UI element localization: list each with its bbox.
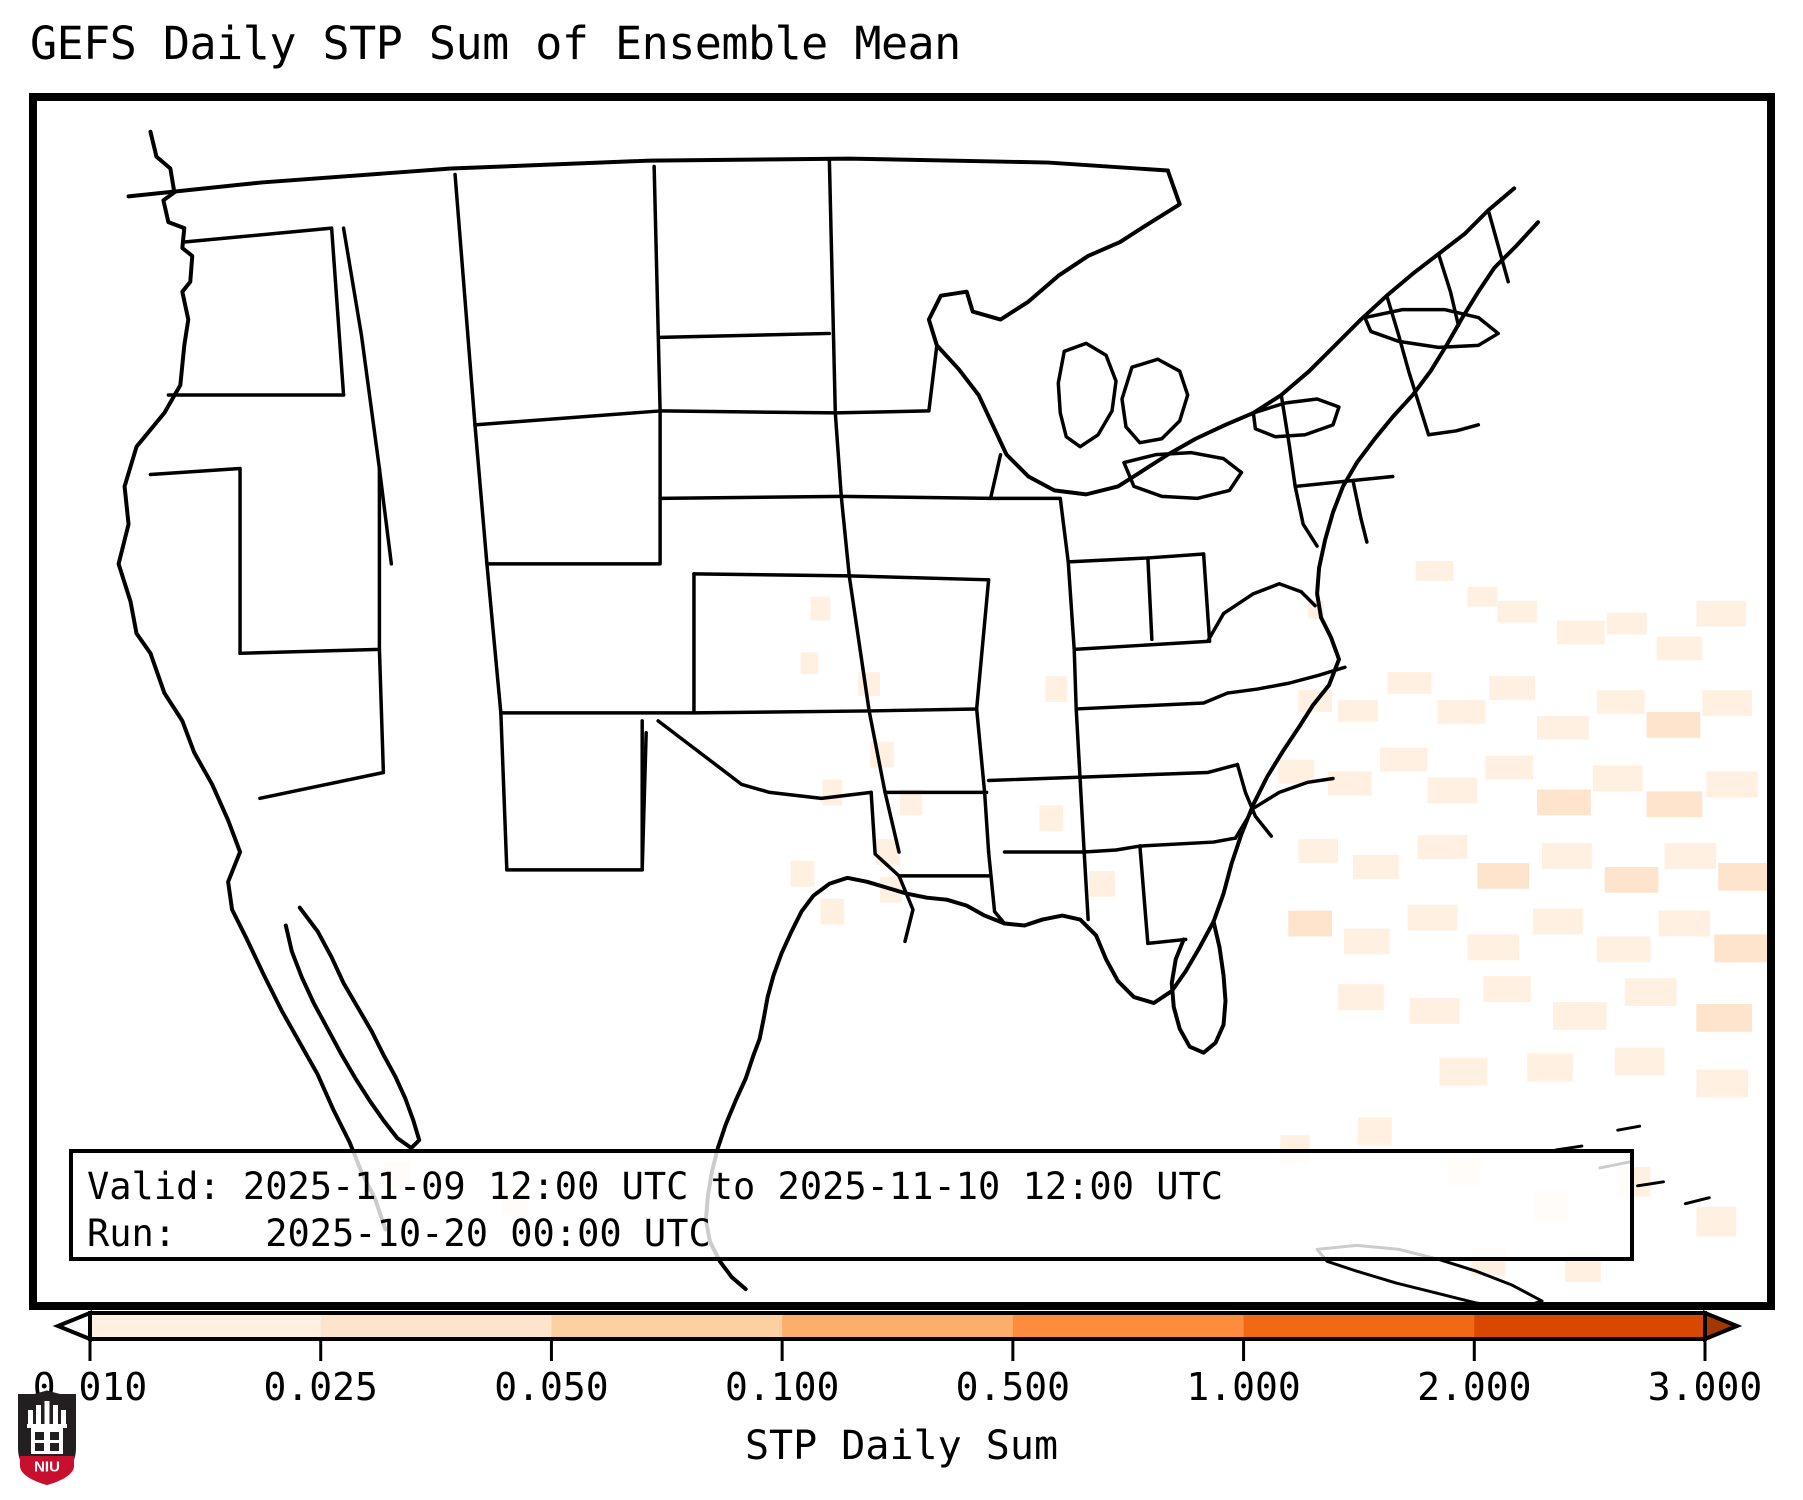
colorbar-axis-label-text: STP Daily Sum [745, 1422, 1058, 1470]
map-panel[interactable]: Valid: 2025-11-09 12:00 UTC to 2025-11-1… [29, 93, 1775, 1310]
colorbar-tick-label: 0.500 [956, 1365, 1070, 1409]
data-patch [1706, 772, 1758, 798]
data-patch [1418, 835, 1468, 859]
data-patch [1593, 766, 1643, 792]
colorbar-tick-label: 0.100 [725, 1365, 839, 1409]
colorbar-band [1013, 1313, 1244, 1339]
colorbar-over-arrow [1705, 1313, 1737, 1339]
data-patch [1553, 1002, 1607, 1030]
map-canvas [33, 97, 1771, 1306]
data-patch [800, 652, 818, 674]
data-patch [1278, 760, 1314, 784]
data-patch [1718, 863, 1771, 891]
data-patch [1605, 867, 1659, 893]
data-patch [1467, 587, 1497, 607]
weather-map-figure: GEFS Daily STP Sum of Ensemble Mean [0, 0, 1803, 1500]
data-patch [1696, 1004, 1752, 1032]
page-title: GEFS Daily STP Sum of Ensemble Mean [30, 16, 961, 72]
data-patch [1497, 601, 1537, 623]
data-patch [1388, 672, 1432, 694]
data-patch [1537, 789, 1591, 815]
data-patch [1485, 756, 1533, 780]
colorbar-tick-label: 1.000 [1186, 1365, 1300, 1409]
data-patch [1557, 621, 1605, 645]
colorbar-ticks [90, 1339, 1705, 1361]
data-patch [1647, 791, 1703, 817]
colorbar-under-arrow [58, 1313, 90, 1339]
data-patch [1702, 690, 1752, 716]
data-patch [1338, 984, 1384, 1010]
data-patch [1438, 700, 1486, 724]
data-patch [1410, 998, 1460, 1024]
data-patch [1288, 911, 1332, 937]
border-great-lakes [929, 171, 1514, 495]
data-patch [1358, 1117, 1392, 1145]
niu-logo-text: NIU [34, 1459, 60, 1476]
data-patch [1659, 911, 1711, 937]
data-patch [1380, 748, 1428, 772]
colorbar-band [1474, 1313, 1705, 1339]
data-patch [1664, 843, 1716, 869]
data-patch [1537, 716, 1589, 740]
data-patch [1477, 863, 1529, 889]
colorbar-band [551, 1313, 782, 1339]
colorbar-tick-label: 2.000 [1417, 1365, 1531, 1409]
data-patch [1533, 909, 1583, 935]
data-patch [1428, 777, 1478, 803]
colorbar-tick-label: 3.000 [1648, 1365, 1762, 1409]
data-patch [1527, 1054, 1573, 1082]
data-patch [1607, 613, 1647, 635]
data-patch [1625, 978, 1677, 1006]
colorbar-axis-label: STP Daily Sum [0, 1422, 1803, 1470]
valid-time-line: Valid: 2025-11-09 12:00 UTC to 2025-11-1… [87, 1163, 1630, 1210]
data-patch [1597, 936, 1651, 962]
data-patch [1489, 676, 1535, 700]
data-patch [1408, 905, 1458, 931]
data-patch [1597, 690, 1645, 714]
data-patch [1440, 1058, 1488, 1086]
data-patch [1416, 561, 1454, 581]
colorbar-band [321, 1313, 552, 1339]
colorbar-band [90, 1313, 321, 1339]
data-patch [1039, 805, 1063, 831]
run-time-line: Run: 2025-10-20 00:00 UTC [87, 1210, 1630, 1257]
data-patch [820, 899, 844, 925]
data-patch [1353, 855, 1399, 879]
colorbar-band [1244, 1313, 1475, 1339]
data-patch [822, 779, 842, 805]
colorbar-tick-label: 0.025 [264, 1365, 378, 1409]
data-patch [791, 861, 815, 887]
data-patch [1542, 843, 1592, 869]
data-patch [1338, 700, 1378, 722]
info-box: Valid: 2025-11-09 12:00 UTC to 2025-11-1… [69, 1149, 1634, 1261]
colorbar-tick-label: 0.050 [494, 1365, 608, 1409]
data-patch [870, 742, 894, 768]
data-patch [858, 672, 880, 696]
data-patch [1467, 934, 1519, 960]
state-boundaries [150, 159, 1508, 944]
data-patch [1696, 1207, 1736, 1237]
data-patch [1045, 676, 1067, 702]
colorbar-tick-labels: 0.0100.0250.0500.1000.5001.0002.0003.000 [0, 1365, 1803, 1413]
data-patch [1647, 712, 1701, 738]
data-patch [1696, 601, 1746, 627]
data-patch [1657, 636, 1703, 660]
great-lakes [1058, 310, 1498, 499]
data-patch [1615, 1048, 1665, 1076]
data-patch [810, 597, 830, 621]
coastline-baja [286, 908, 419, 1148]
data-patch [1298, 839, 1338, 863]
colorbar-bands [58, 1313, 1737, 1339]
data-patch [1344, 928, 1390, 954]
data-patch [1696, 1070, 1748, 1098]
border-usa-canada-49th [129, 159, 1168, 197]
niu-logo: NIU [14, 1390, 80, 1486]
data-patch [1328, 772, 1372, 796]
data-patch [1089, 871, 1115, 897]
data-patch [1714, 934, 1770, 962]
colorbar-band [782, 1313, 1013, 1339]
data-patch [1483, 976, 1531, 1002]
